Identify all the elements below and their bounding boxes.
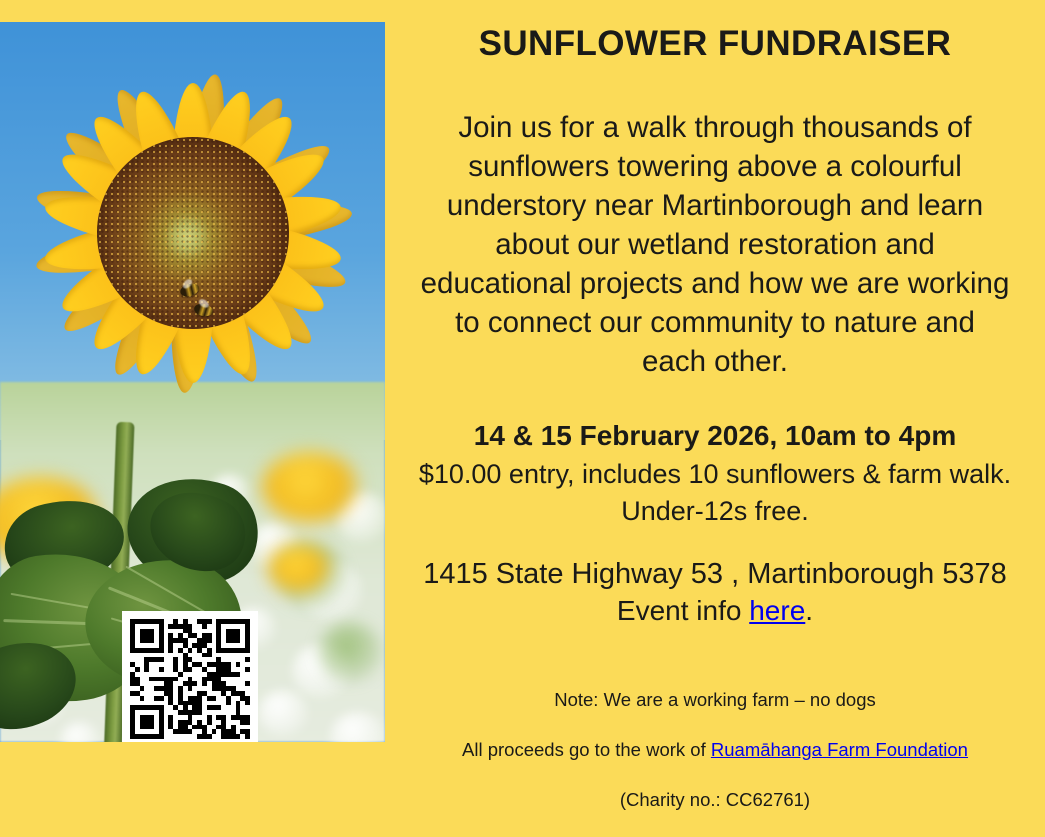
event-info-suffix: . xyxy=(805,595,813,626)
event-info-line: Event info here. xyxy=(385,593,1045,629)
poster: SUNFLOWER FUNDRAISER Join us for a walk … xyxy=(0,0,1045,749)
footnote-proceeds: All proceeds go to the work of Ruamāhang… xyxy=(385,737,1045,762)
bokeh-green xyxy=(318,622,382,682)
event-pricing: $10.00 entry, includes 10 sunflowers & f… xyxy=(385,456,1045,530)
leaf-vein xyxy=(126,565,208,614)
footnote-no-dogs: Note: We are a working farm – no dogs xyxy=(385,687,1045,712)
qr-code-matrix xyxy=(130,619,250,739)
event-datetime: 14 & 15 February 2026, 10am to 4pm xyxy=(385,418,1045,454)
background-sunflower xyxy=(268,544,330,592)
footnote-proceeds-prefix: All proceeds go to the work of xyxy=(462,739,711,760)
seed-texture xyxy=(97,137,289,329)
sunflower-disk xyxy=(97,137,289,329)
sunflower-head xyxy=(22,62,364,404)
sunflower-photo xyxy=(0,22,385,742)
poster-text-column: SUNFLOWER FUNDRAISER Join us for a walk … xyxy=(385,0,1045,749)
event-address: 1415 State Highway 53 , Martinborough 53… xyxy=(385,556,1045,593)
qr-code[interactable] xyxy=(122,611,258,742)
background-sunflower xyxy=(262,452,358,522)
footnote-charity-number: (Charity no.: CC62761) xyxy=(385,787,1045,812)
description-paragraph: Join us for a walk through thousands of … xyxy=(383,108,1045,381)
footnote-block: Note: We are a working farm – no dogs Al… xyxy=(385,662,1045,837)
bokeh-highlight xyxy=(258,690,308,736)
page-title: SUNFLOWER FUNDRAISER xyxy=(385,25,1045,64)
foundation-link[interactable]: Ruamāhanga Farm Foundation xyxy=(711,739,968,760)
event-info-link[interactable]: here xyxy=(749,595,805,626)
event-info-prefix: Event info xyxy=(617,595,749,626)
